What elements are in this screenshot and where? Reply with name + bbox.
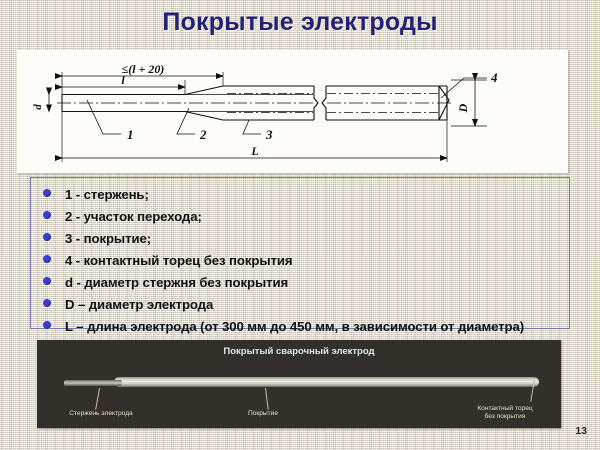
bullet-icon: [43, 277, 51, 285]
list-item-label: d - диаметр стержня без покрытия: [65, 275, 288, 290]
photo-label-contact-end-text2: без покрытия: [485, 413, 526, 420]
callout-1: 1: [127, 127, 134, 142]
list-item-label: 2 - участок перехода;: [65, 209, 202, 224]
list-item: D – диаметр электрода: [43, 297, 569, 319]
dimension-label-D: D: [456, 103, 470, 113]
list-item-label: 3 - покрытие;: [65, 231, 151, 246]
list-item: 2 - участок перехода;: [43, 209, 569, 231]
dimension-label-overall: ≤(l + 20): [122, 62, 165, 76]
electrode-photo-panel: Покрытый сварочный электрод Стержень эле…: [37, 340, 561, 428]
electrode-bare-core: [64, 380, 122, 386]
callout-3: 3: [265, 127, 273, 142]
photo-label-contact-end: Контактный торец без покрытия: [469, 405, 541, 421]
photo-label-rod-text: Стержень электрода: [69, 410, 132, 417]
dimension-label-d: d: [32, 104, 44, 110]
slide-background: Покрытые электроды: [0, 0, 600, 450]
callout-2: 2: [199, 127, 207, 142]
list-item-label: 4 - контактный торец без покрытия: [65, 253, 292, 268]
electrode-photo-image: [59, 376, 539, 389]
page-title: Покрытые электроды: [0, 8, 600, 37]
photo-label-coating-text: Покрытие: [248, 410, 278, 417]
legend-box: 1 - стержень; 2 - участок перехода; 3 - …: [30, 177, 570, 329]
bullet-icon: [43, 211, 51, 219]
list-item: L – длина электрода (от 300 мм до 450 мм…: [43, 319, 569, 341]
leader-line-coating: [265, 388, 269, 410]
bullet-icon: [43, 299, 51, 307]
list-item-label: L – длина электрода (от 300 мм до 450 мм…: [65, 319, 524, 334]
photo-label-rod: Стержень электрода: [61, 410, 141, 418]
photo-label-contact-end-text: Контактный торец: [477, 405, 532, 412]
technical-drawing-svg: ≤(l + 20) l d D L 1 2 3 4: [17, 50, 568, 173]
list-item: 1 - стержень;: [43, 187, 569, 209]
technical-drawing-panel: ≤(l + 20) l d D L 1 2 3 4: [17, 50, 568, 173]
list-item-label: D – диаметр электрода: [65, 297, 213, 312]
list-item-label: 1 - стержень;: [65, 187, 149, 202]
page-number: 13: [575, 425, 587, 437]
list-item: d - диаметр стержня без покрытия: [43, 275, 569, 297]
bullet-icon: [43, 189, 51, 197]
dimension-label-L: L: [250, 144, 258, 158]
callout-4: 4: [490, 70, 498, 85]
electrode-coating: [114, 377, 539, 387]
bullet-icon: [43, 233, 51, 241]
photo-caption: Покрытый сварочный электрод: [37, 346, 561, 357]
photo-label-coating: Покрытие: [233, 410, 293, 418]
list-item: 3 - покрытие;: [43, 231, 569, 253]
list-item: 4 - контактный торец без покрытия: [43, 253, 569, 275]
bullet-icon: [43, 321, 51, 329]
leader-line-rod: [95, 388, 100, 410]
bullet-icon: [43, 255, 51, 263]
